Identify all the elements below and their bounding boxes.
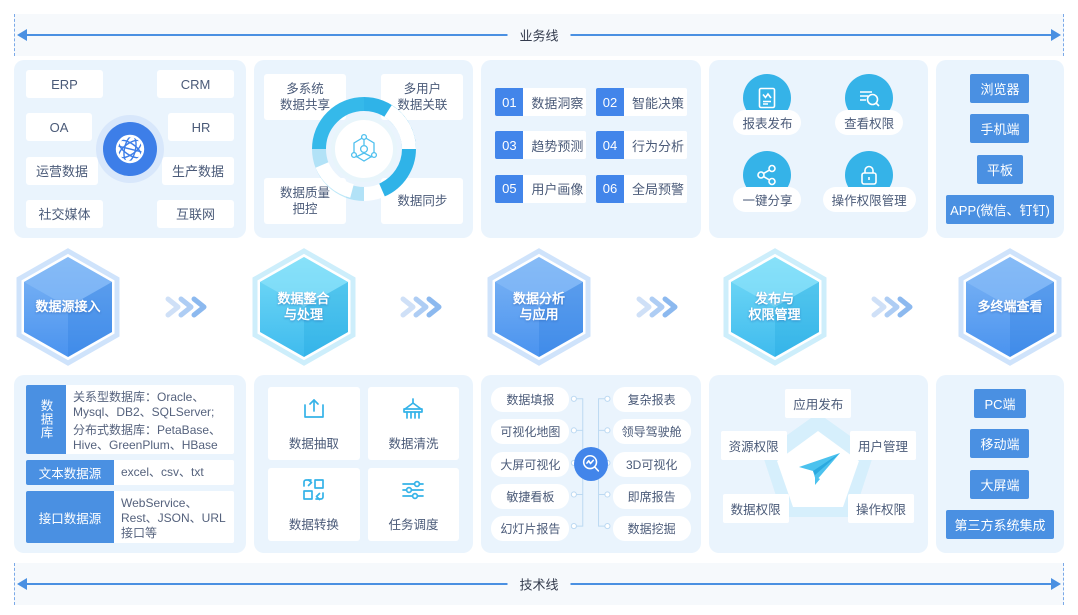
source-chip[interactable]: 生产数据: [162, 157, 234, 185]
stage-hexagon-1[interactable]: 数据源接入: [14, 248, 122, 366]
process-tile-label: 数据清洗: [388, 433, 438, 452]
analysis-item-label: 用户画像: [523, 175, 586, 203]
analytics-search-icon: [574, 447, 608, 481]
terminal-button-tablet[interactable]: 平板: [977, 155, 1023, 184]
analysis-item[interactable]: 04 行为分析: [596, 131, 687, 159]
stage-arrow-2: [358, 294, 486, 320]
db-row-value: excel、csv、txt: [114, 460, 234, 485]
panel-data-analysis: 01 数据洞察 02 智能决策 03 趋势预测 04 行为分析 05 用户画像 …: [481, 60, 700, 238]
analysis-item[interactable]: 06 全局预警: [596, 175, 687, 203]
permission-chip-data[interactable]: 数据权限: [723, 494, 789, 523]
publish-item-label: 查看权限: [835, 110, 903, 135]
top-row: ERP CRM OA HR 运营数据 生产数据 社交媒体 互联网: [14, 60, 1064, 238]
stage-arrow-4: [829, 294, 957, 320]
source-chip[interactable]: OA: [26, 113, 92, 141]
analysis-item[interactable]: 05 用户画像: [495, 175, 586, 203]
publish-item-report[interactable]: 报表发布: [717, 72, 819, 149]
sliders-schedule-icon: [400, 477, 426, 508]
analysis-item-label: 趋势预测: [523, 131, 586, 159]
broom-clean-icon: [400, 396, 426, 427]
process-tile-label: 数据抽取: [289, 433, 339, 452]
business-line-axis: 业务线: [14, 14, 1064, 56]
permission-chip-app-publish[interactable]: 应用发布: [785, 389, 851, 418]
db-row-key: 文本数据源: [26, 460, 114, 485]
db-row-api-source[interactable]: 接口数据源 WebService、Rest、JSON、URL接口等: [26, 491, 234, 543]
analysis-item-label: 行为分析: [624, 131, 687, 159]
publish-item-label: 报表发布: [733, 110, 801, 135]
db-row-value: WebService、Rest、JSON、URL接口等: [114, 491, 234, 543]
pipeline-stages: 数据源接入 数据整合 与处理: [14, 246, 1064, 368]
publish-item-operation-permission[interactable]: 操作权限管理: [818, 149, 920, 226]
business-line-label: 业务线: [507, 26, 570, 45]
source-chip[interactable]: 运营数据: [26, 157, 98, 185]
panel-publish-permission-detail: 应用发布 资源权限 用户管理 数据权限 操作权限: [709, 375, 928, 553]
panel-publish-permission: 报表发布 查看权限: [709, 60, 928, 238]
permission-chip-resource[interactable]: 资源权限: [721, 431, 787, 460]
panel-terminals-business: 浏览器 手机端 平板 APP(微信、钉钉): [936, 60, 1064, 238]
process-tile-schedule[interactable]: 任务调度: [368, 468, 460, 541]
panel-data-integration: 多系统 数据共享 多用户 数据关联 数据质量 把控 数据同步: [254, 60, 473, 238]
process-tile-transform[interactable]: 数据转换: [268, 468, 360, 541]
stage-hexagon-5[interactable]: 多终端查看: [956, 248, 1064, 366]
technical-line-axis: 技术线: [14, 563, 1064, 605]
terminal-button-mobile[interactable]: 移动端: [970, 429, 1029, 458]
publish-item-label: 一键分享: [733, 187, 801, 212]
db-row-database[interactable]: 数据库 关系型数据库：Oracle、Mysql、DB2、SQLServer; 分…: [26, 385, 234, 454]
analysis-item-number: 05: [495, 175, 523, 203]
analysis-item[interactable]: 03 趋势预测: [495, 131, 586, 159]
upload-box-icon: [301, 396, 327, 427]
terminal-button-pc[interactable]: PC端: [974, 389, 1025, 418]
process-tile-label: 任务调度: [388, 514, 438, 533]
transform-swap-icon: [301, 477, 327, 508]
db-row-text-source[interactable]: 文本数据源 excel、csv、txt: [26, 460, 234, 485]
source-chip[interactable]: CRM: [157, 70, 234, 98]
db-row-value: 关系型数据库：Oracle、Mysql、DB2、SQLServer; 分布式数据…: [66, 385, 234, 454]
permission-chip-user-mgmt[interactable]: 用户管理: [850, 431, 916, 460]
analysis-item-number: 04: [596, 131, 624, 159]
publish-item-label: 操作权限管理: [823, 187, 916, 212]
panel-data-processing: 数据抽取 数据清洗: [254, 375, 473, 553]
permission-chip-operation[interactable]: 操作权限: [848, 494, 914, 523]
analysis-item[interactable]: 01 数据洞察: [495, 88, 586, 116]
panel-data-application: 数据填报 可视化地图 大屏可视化 敏捷看板 幻灯片报告 复杂报表 领导驾驶舱 3…: [481, 375, 700, 553]
source-chip[interactable]: HR: [168, 113, 234, 141]
db-value-line: 分布式数据库：PetaBase、Hive、GreenPlum、HBase: [73, 423, 227, 453]
stage-arrow-1: [122, 294, 250, 320]
db-row-key: 数据库: [26, 385, 66, 454]
analysis-item-label: 数据洞察: [523, 88, 586, 116]
terminal-button-bigscreen[interactable]: 大屏端: [970, 470, 1029, 499]
process-tile-extract[interactable]: 数据抽取: [268, 387, 360, 460]
analysis-item-label: 智能决策: [624, 88, 687, 116]
analysis-item-number: 02: [596, 88, 624, 116]
arrow-left-icon: [17, 578, 27, 590]
arrow-right-icon: [1051, 29, 1061, 41]
terminal-button-third-party[interactable]: 第三方系统集成: [946, 510, 1054, 539]
publish-item-view-permission[interactable]: 查看权限: [818, 72, 920, 149]
db-value-line: 关系型数据库：Oracle、Mysql、DB2、SQLServer;: [73, 390, 227, 420]
analysis-item-number: 01: [495, 88, 523, 116]
db-row-key: 接口数据源: [26, 491, 114, 543]
panel-database-sources: 数据库 关系型数据库：Oracle、Mysql、DB2、SQLServer; 分…: [14, 375, 246, 553]
source-chip[interactable]: 互联网: [157, 200, 234, 228]
panel-data-sources: ERP CRM OA HR 运营数据 生产数据 社交媒体 互联网: [14, 60, 246, 238]
technical-line-label: 技术线: [507, 575, 570, 594]
stage-hexagon-3[interactable]: 数据分析 与应用: [485, 248, 593, 366]
analysis-item-label: 全局预警: [624, 175, 687, 203]
integration-donut-chart: [312, 97, 416, 201]
publish-item-share[interactable]: 一键分享: [717, 149, 819, 226]
terminal-button-mobile[interactable]: 手机端: [970, 114, 1029, 143]
terminal-button-app[interactable]: APP(微信、钉钉): [946, 195, 1054, 224]
source-chip[interactable]: ERP: [26, 70, 103, 98]
process-tile-clean[interactable]: 数据清洗: [368, 387, 460, 460]
analysis-item[interactable]: 02 智能决策: [596, 88, 687, 116]
bottom-row: 数据库 关系型数据库：Oracle、Mysql、DB2、SQLServer; 分…: [14, 375, 1064, 553]
globe-network-icon: [103, 122, 157, 176]
terminal-button-browser[interactable]: 浏览器: [970, 74, 1029, 103]
arrow-right-icon: [1051, 578, 1061, 590]
process-tile-label: 数据转换: [289, 514, 339, 533]
stage-arrow-3: [593, 294, 721, 320]
analysis-item-number: 03: [495, 131, 523, 159]
stage-hexagon-2[interactable]: 数据整合 与处理: [250, 248, 358, 366]
panel-terminals-technical: PC端 移动端 大屏端 第三方系统集成: [936, 375, 1064, 553]
analysis-item-number: 06: [596, 175, 624, 203]
stage-hexagon-4[interactable]: 发布与 权限管理: [721, 248, 829, 366]
source-chip[interactable]: 社交媒体: [26, 200, 103, 228]
arrow-left-icon: [17, 29, 27, 41]
